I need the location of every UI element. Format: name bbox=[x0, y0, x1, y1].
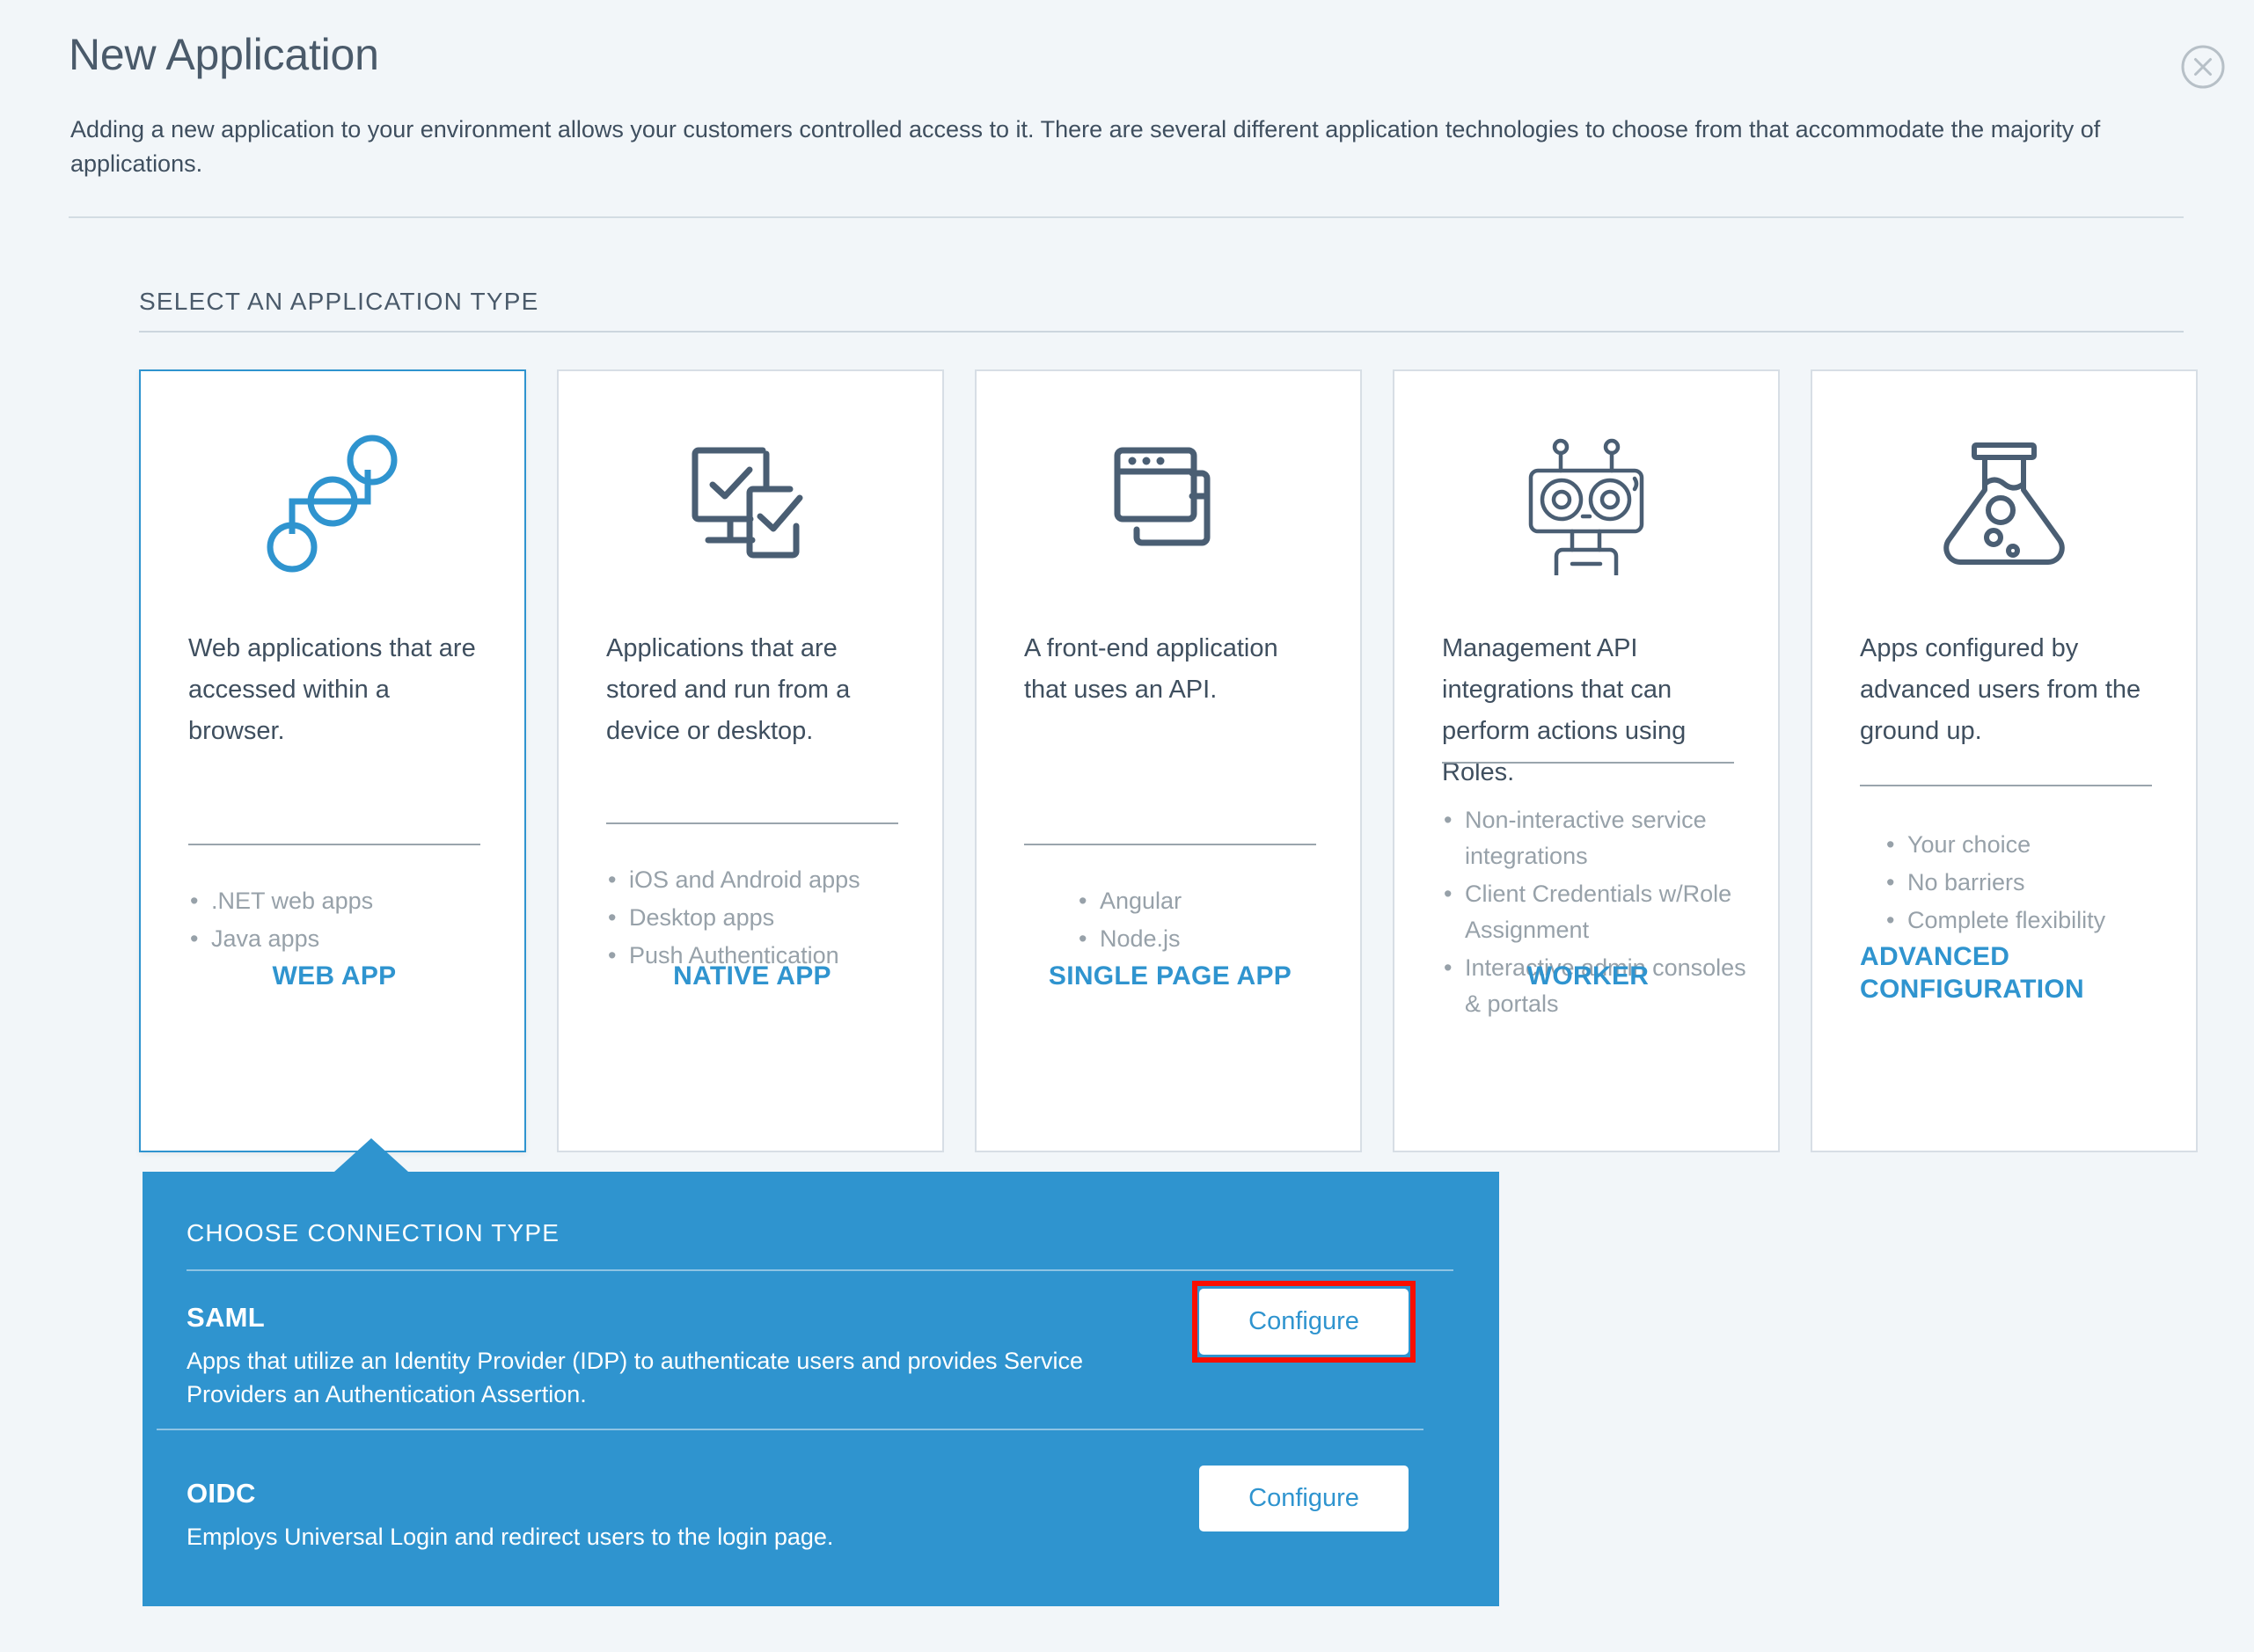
card-description: Web applications that are accessed withi… bbox=[188, 628, 479, 752]
card-bullet-list: Angular Node.js bbox=[1024, 883, 1394, 959]
list-item: No barriers bbox=[1884, 865, 2201, 901]
header-divider bbox=[69, 216, 2184, 218]
browser-windows-icon bbox=[977, 426, 1360, 584]
app-type-label-single-page-app[interactable]: SINGLE PAGE APP bbox=[1024, 961, 1316, 993]
card-divider bbox=[188, 844, 480, 845]
panel-title-divider bbox=[187, 1269, 1453, 1271]
monitor-and-device-check-icon bbox=[559, 426, 942, 584]
application-type-list: Web applications that are accessed withi… bbox=[139, 369, 2201, 1152]
section-title: SELECT AN APPLICATION TYPE bbox=[139, 288, 538, 316]
app-type-card-worker[interactable]: Management API integrations that can per… bbox=[1393, 369, 1780, 1152]
connection-name-oidc: OIDC bbox=[187, 1478, 256, 1509]
flask-icon bbox=[1812, 426, 2196, 584]
panel-title: CHOOSE CONNECTION TYPE bbox=[187, 1219, 560, 1247]
card-bullet-list: Your choice No barriers Complete flexibi… bbox=[1860, 827, 2201, 940]
connection-description-oidc: Employs Universal Login and redirect use… bbox=[187, 1520, 1137, 1553]
connection-name-saml: SAML bbox=[187, 1302, 265, 1334]
close-icon[interactable] bbox=[2180, 44, 2226, 90]
list-item: Java apps bbox=[188, 921, 505, 957]
list-item: Node.js bbox=[1077, 921, 1394, 957]
list-item: Complete flexibility bbox=[1884, 903, 2201, 939]
dialog-description: Adding a new application to your environ… bbox=[70, 113, 2182, 181]
list-item: .NET web apps bbox=[188, 883, 505, 919]
section-divider bbox=[139, 331, 2184, 333]
app-type-card-advanced-configuration[interactable]: Apps configured by advanced users from t… bbox=[1811, 369, 2198, 1152]
app-type-label-native-app[interactable]: NATIVE APP bbox=[606, 961, 898, 993]
list-item: iOS and Android apps bbox=[606, 862, 923, 898]
app-type-card-web-app[interactable]: Web applications that are accessed withi… bbox=[139, 369, 526, 1152]
list-item: Angular bbox=[1077, 883, 1394, 919]
connection-row-divider bbox=[157, 1429, 1423, 1430]
card-description: Management API integrations that can per… bbox=[1442, 628, 1732, 793]
list-item: Non-interactive service integrations bbox=[1442, 802, 1759, 874]
card-bullet-list: iOS and Android apps Desktop apps Push A… bbox=[606, 862, 923, 976]
app-type-card-single-page-app[interactable]: A front-end application that uses an API… bbox=[975, 369, 1362, 1152]
app-type-label-web-app[interactable]: WEB APP bbox=[188, 961, 480, 993]
card-description: Applications that are stored and run fro… bbox=[606, 628, 896, 752]
configure-saml-button[interactable]: Configure bbox=[1199, 1289, 1409, 1355]
app-type-label-advanced-configuration[interactable]: ADVANCED CONFIGURATION bbox=[1860, 941, 2152, 1005]
card-divider bbox=[1442, 762, 1734, 764]
choose-connection-type-panel: CHOOSE CONNECTION TYPE SAML Apps that ut… bbox=[143, 1172, 1499, 1606]
page-title: New Application bbox=[69, 28, 379, 81]
card-divider bbox=[1024, 844, 1316, 845]
card-divider bbox=[1860, 785, 2152, 786]
list-item: Your choice bbox=[1884, 827, 2201, 863]
configure-oidc-button[interactable]: Configure bbox=[1199, 1466, 1409, 1531]
app-type-card-native-app[interactable]: Applications that are stored and run fro… bbox=[557, 369, 944, 1152]
card-description: Apps configured by advanced users from t… bbox=[1860, 628, 2150, 752]
card-description: A front-end application that uses an API… bbox=[1024, 628, 1314, 711]
list-item: Desktop apps bbox=[606, 900, 923, 936]
card-bullet-list: .NET web apps Java apps bbox=[188, 883, 505, 959]
nodes-graph-icon bbox=[141, 426, 524, 584]
panel-caret bbox=[334, 1138, 408, 1172]
robot-icon bbox=[1394, 426, 1778, 584]
card-divider bbox=[606, 822, 898, 824]
list-item: Client Credentials w/Role Assignment bbox=[1442, 876, 1759, 948]
app-type-label-worker[interactable]: WORKER bbox=[1442, 961, 1734, 993]
connection-description-saml: Apps that utilize an Identity Provider (… bbox=[187, 1344, 1137, 1412]
